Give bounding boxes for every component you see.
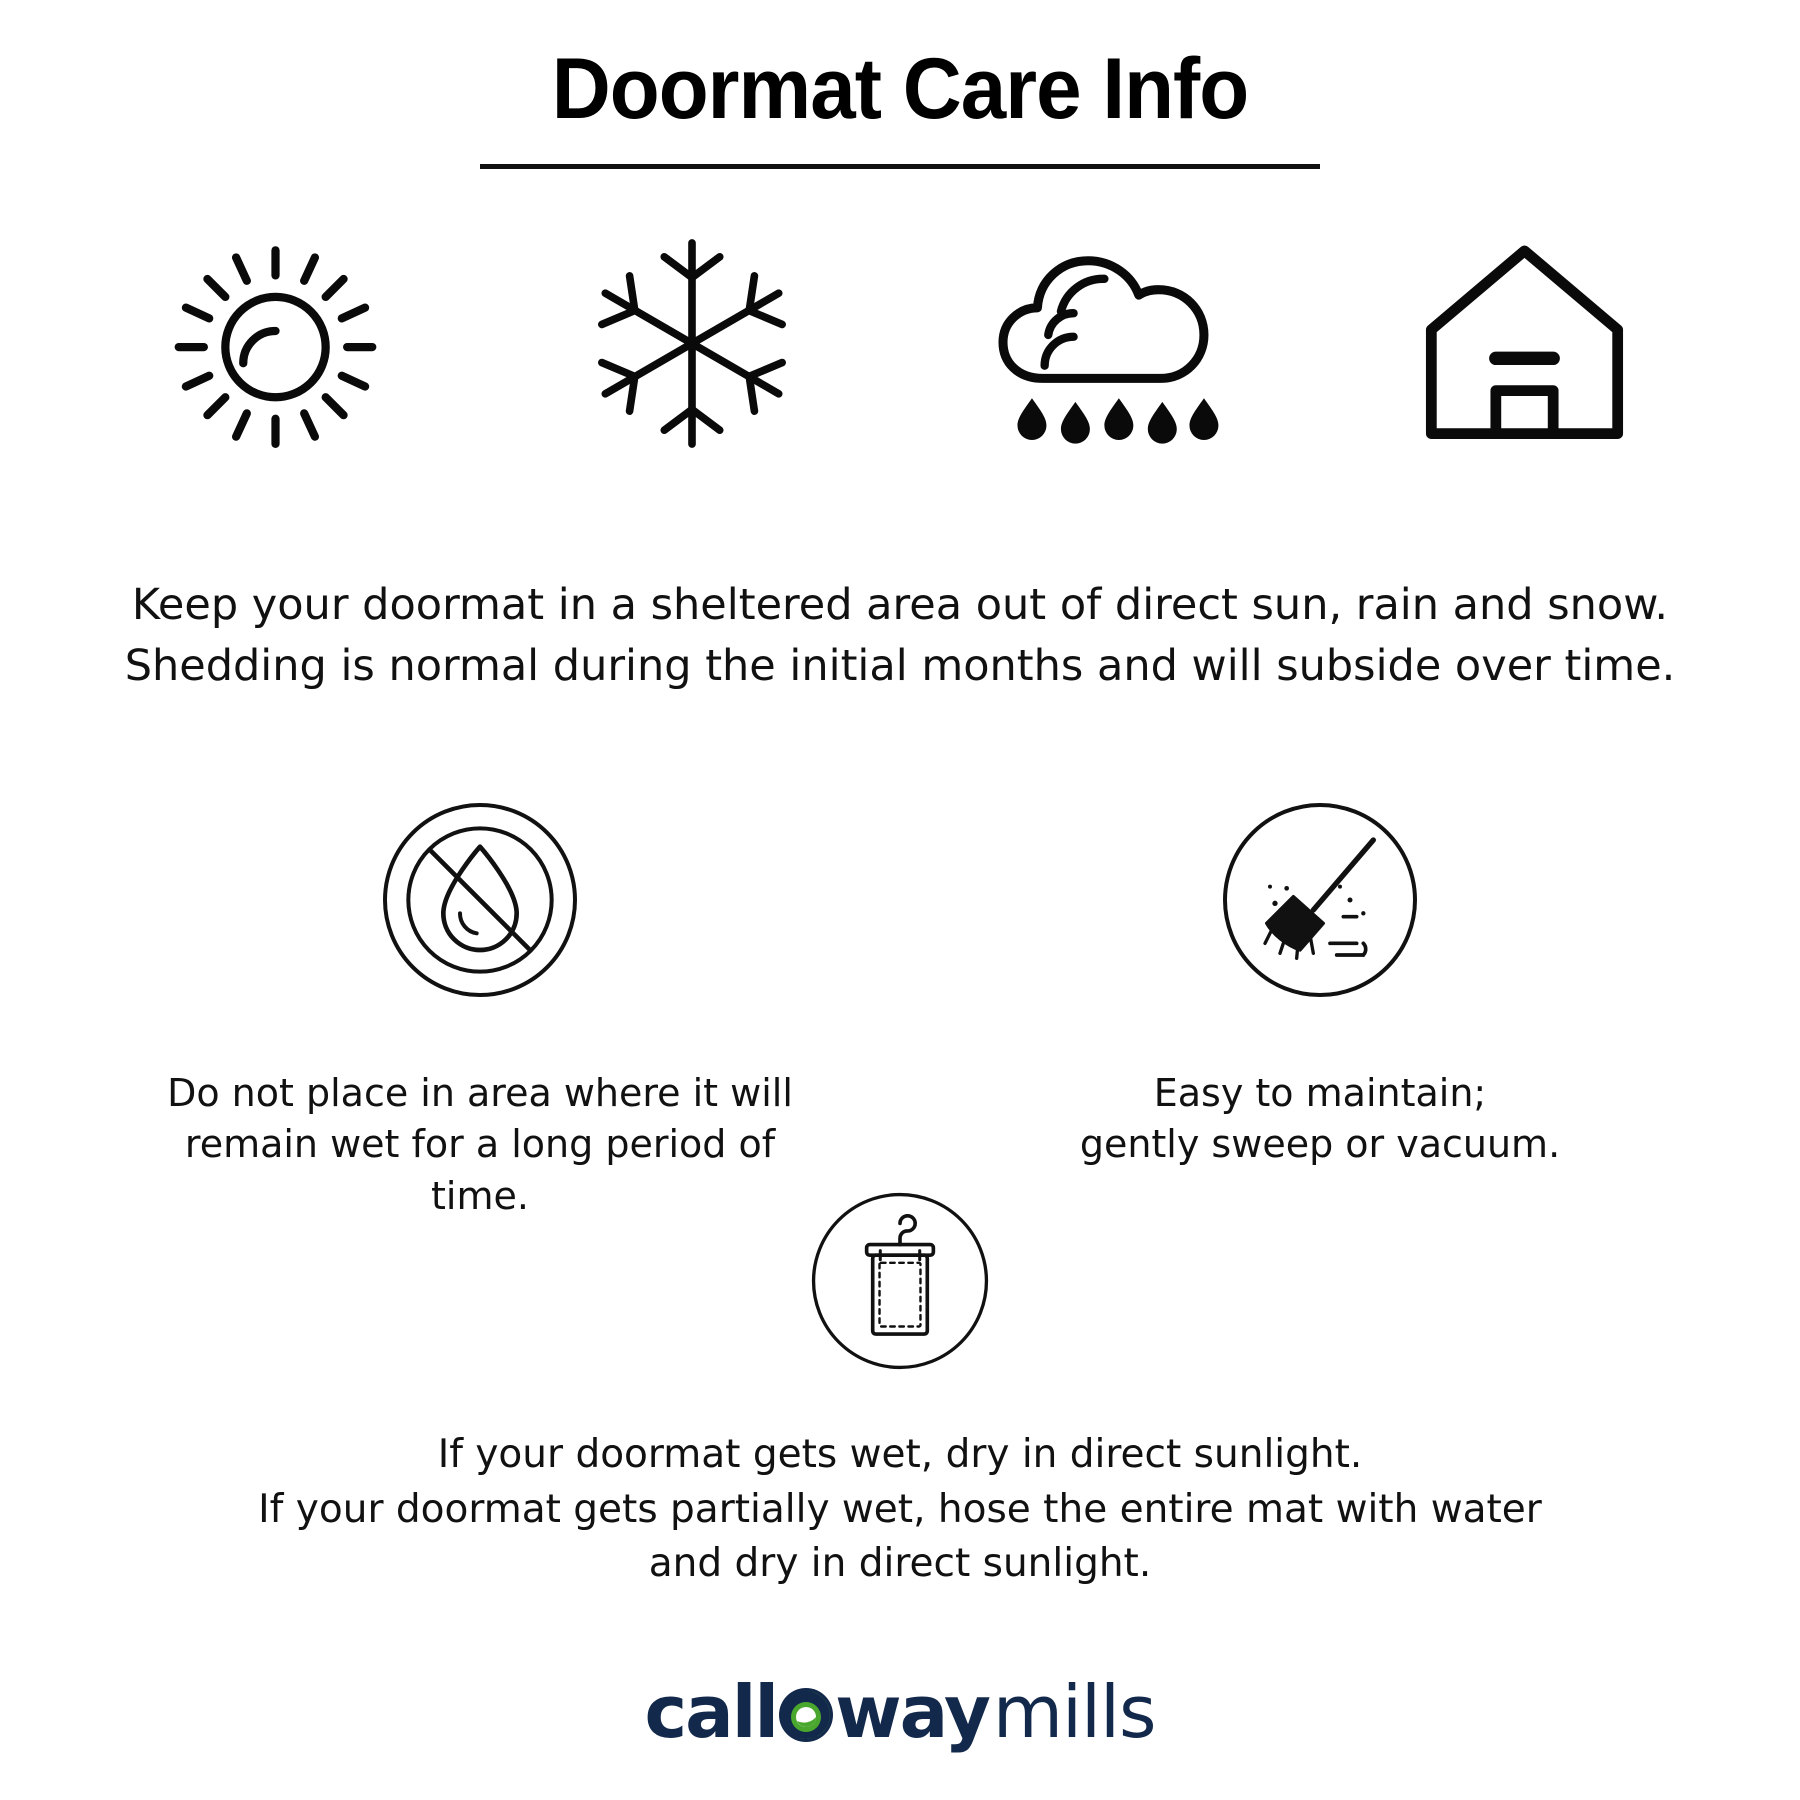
logo-call-part: call (644, 1676, 777, 1748)
care-item-sweep-caption: Easy to maintain; gently sweep or vacuum… (1080, 1068, 1560, 1171)
logo-o-green-icon (778, 1687, 834, 1743)
infographic-page: Doormat Care Info (0, 0, 1800, 1800)
logo-mills-text: mills (993, 1676, 1156, 1748)
intro-line-2: Shedding is normal during the initial mo… (80, 636, 1720, 697)
brand-logo: call way mills (0, 1676, 1800, 1748)
page-title: Doormat Care Info (45, 46, 1755, 132)
title-underline-rule (480, 164, 1320, 169)
drying-item-caption: If your doormat gets wet, dry in direct … (258, 1428, 1542, 1592)
house-icon (1400, 236, 1650, 451)
drying-item-line-2: If your doormat gets partially wet, hose… (258, 1483, 1542, 1538)
drying-item-line-3: and dry in direct sunlight. (258, 1537, 1542, 1592)
care-item-sweep-line-2: gently sweep or vacuum. (1080, 1119, 1560, 1170)
care-item-sweep-line-1: Easy to maintain; (1080, 1068, 1560, 1119)
care-items-row: Do not place in area where it will remai… (60, 800, 1740, 1222)
snowflake-icon (567, 236, 817, 451)
no-water-icon (380, 800, 580, 1000)
broom-sweep-icon (1220, 800, 1420, 1000)
sun-icon (150, 236, 400, 451)
title-block: Doormat Care Info (0, 46, 1800, 169)
logo-way-part: way (835, 1676, 989, 1748)
weather-icon-row (150, 236, 1650, 451)
hanging-mat-dry-icon (809, 1190, 991, 1372)
intro-paragraph: Keep your doormat in a sheltered area ou… (80, 575, 1720, 697)
care-item-sweep: Easy to maintain; gently sweep or vacuum… (1000, 800, 1640, 1171)
logo-calloway-text: call way (644, 1676, 988, 1748)
care-item-no-water: Do not place in area where it will remai… (160, 800, 800, 1222)
intro-line-1: Keep your doormat in a sheltered area ou… (80, 575, 1720, 636)
drying-item: If your doormat gets wet, dry in direct … (0, 1190, 1800, 1592)
logo-lockup: call way mills (644, 1676, 1155, 1748)
drying-item-line-1: If your doormat gets wet, dry in direct … (258, 1428, 1542, 1483)
rain-cloud-icon (983, 236, 1233, 451)
care-item-no-water-line-1: Do not place in area where it will (160, 1068, 800, 1119)
